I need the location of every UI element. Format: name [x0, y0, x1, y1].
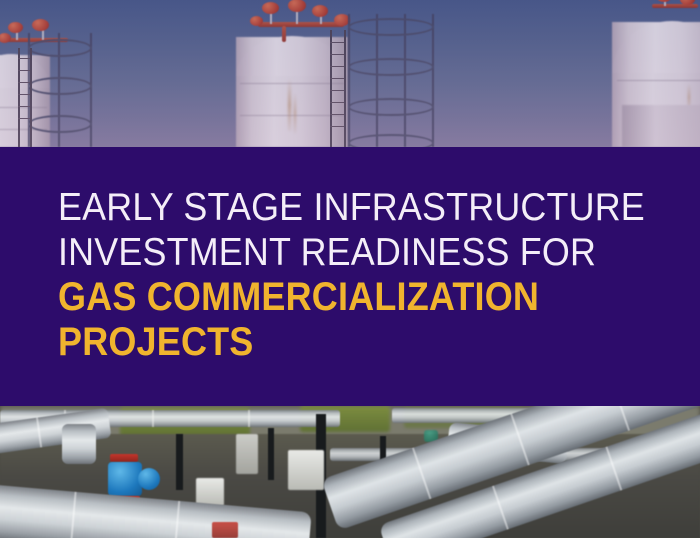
pipe-elbow-left-turn: [62, 424, 96, 464]
valve-red-foreground: [212, 522, 238, 538]
caged-ladder-center: [348, 14, 434, 147]
storage-tank-right: [612, 22, 700, 147]
title-text-block: EARLY STAGE INFRASTRUCTURE INVESTMENT RE…: [58, 185, 660, 365]
instrument-box-center: [288, 450, 324, 490]
footer-photo-gas-pipelines: [0, 406, 700, 538]
tank-dome: [612, 21, 700, 73]
instrument-column: [236, 434, 258, 474]
valve-manifold-right: [648, 0, 700, 20]
title-banner: EARLY STAGE INFRASTRUCTURE INVESTMENT RE…: [0, 147, 700, 406]
header-photo-gas-storage-tanks: [0, 0, 700, 147]
support-post-mid: [268, 428, 274, 480]
valve-handwheel-blue: [138, 468, 160, 490]
poster-card: EARLY STAGE INFRASTRUCTURE INVESTMENT RE…: [0, 0, 700, 538]
title-line-2: INVESTMENT READINESS FOR: [58, 230, 612, 275]
title-line-3-highlight: GAS COMMERCIALIZATION: [58, 275, 600, 320]
valve-manifold-center: [252, 2, 358, 42]
tank-skirt: [622, 105, 700, 147]
caged-ladder-left: [28, 33, 92, 147]
title-line-4-highlight: PROJECTS: [58, 320, 600, 365]
valve-body-blue: [108, 462, 142, 496]
support-post-left: [176, 434, 183, 490]
title-line-1: EARLY STAGE INFRASTRUCTURE: [58, 185, 612, 230]
valve-flange-upper: [110, 454, 138, 462]
